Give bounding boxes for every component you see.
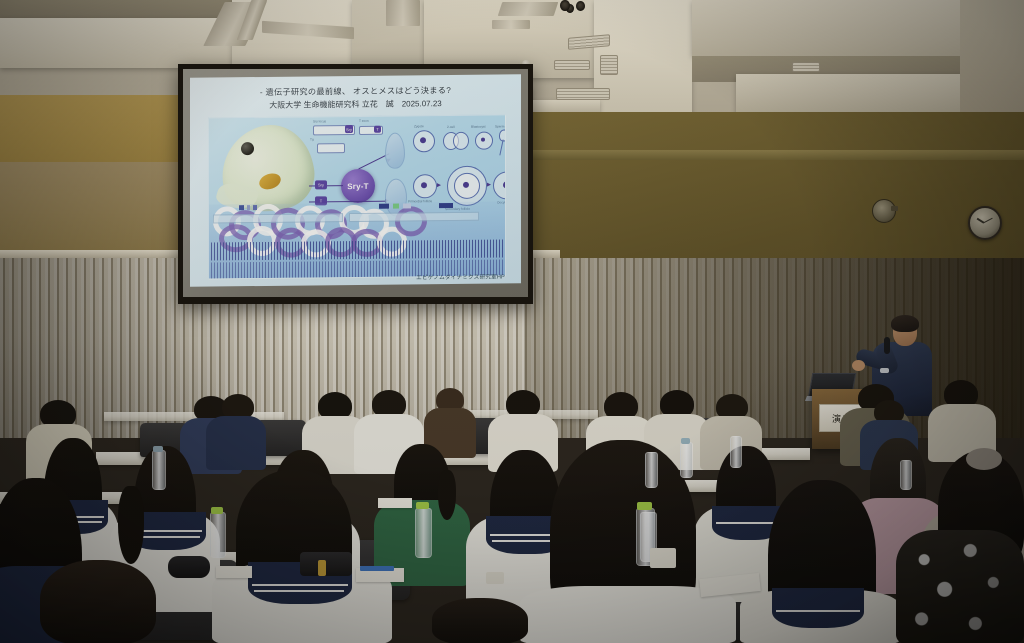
presenter-hair <box>891 315 919 332</box>
handout-accent <box>360 566 394 571</box>
gene-construct-box-3 <box>317 143 345 153</box>
water-bottle-2 <box>210 512 226 558</box>
cell-zygote-nucleus <box>420 137 426 143</box>
wall-speaker-icon <box>872 199 896 223</box>
water-bottle-6 <box>680 442 693 478</box>
water-bottle-1 <box>152 450 166 490</box>
pencil-case <box>300 552 352 576</box>
pathway-tag-1: Sry <box>315 180 327 189</box>
gene-tag-2: T <box>374 126 381 133</box>
tissue-pack <box>650 548 676 568</box>
chromatin-panel <box>209 201 505 278</box>
presenter-wristwatch <box>880 368 889 373</box>
slide-figure: Sry T Sry locus T exon Tg Sry-T Sry T Zy… <box>208 114 506 279</box>
gonad-ridge-male <box>385 132 405 168</box>
slide-credit: エピゲノムダイナミクス研究室HP <box>416 272 505 281</box>
bottle-cap-6 <box>681 438 690 444</box>
presenter-left-hand <box>852 360 865 371</box>
wall-speaker-bracket <box>891 206 898 211</box>
ceiling-light-slot-5 <box>498 2 559 16</box>
cell-sf-nucleus <box>463 182 469 188</box>
wall-left-lower <box>0 162 186 262</box>
ceiling-light-slot-4 <box>386 0 420 26</box>
cell-blastocyst-nucleus <box>481 138 485 142</box>
ceiling-edge-right <box>960 0 1024 122</box>
slide-title-line2: 大阪大学 生命機能研究科 立花 誠 2025.07.23 <box>190 97 521 112</box>
bottle-cap-3 <box>416 502 429 509</box>
bag-item <box>168 556 210 578</box>
embryo-eye <box>241 142 254 155</box>
water-bottle-9 <box>900 460 912 490</box>
downlight-icon-1 <box>576 1 585 11</box>
ceiling-soffit-e <box>692 0 960 56</box>
hair-scrunchie <box>966 448 1002 470</box>
wall-right-trim <box>524 150 1024 160</box>
sry-t-node: Sry-T <box>341 169 375 203</box>
bottle-cap-1 <box>153 446 163 452</box>
projected-slide: - 遺伝子研究の最前線、 オスとメスはどう決まる? 大阪大学 生命機能研究科 立… <box>190 74 521 286</box>
arrowhead-3 <box>437 183 441 187</box>
cell-pf-nucleus <box>421 182 427 188</box>
cell-oocyte-nucleus <box>503 181 506 188</box>
ceiling-soffit-left <box>0 18 232 68</box>
eraser <box>486 572 504 584</box>
ceiling-vent-3 <box>556 88 610 100</box>
cell-2cell-b <box>453 132 469 150</box>
ceiling-vent-1 <box>600 55 618 75</box>
bottle-cap-4 <box>637 502 652 510</box>
gene-tag-1: Sry <box>345 125 353 133</box>
arrowhead-4 <box>487 183 491 187</box>
water-bottle-8 <box>730 436 742 468</box>
handout-4 <box>216 566 252 578</box>
pencil-case-zipper <box>318 560 326 576</box>
ceiling-vent-4 <box>554 60 590 70</box>
cell-sperm-tail <box>499 140 503 156</box>
ceiling-vent-5 <box>792 62 820 72</box>
handout-3 <box>378 498 412 508</box>
water-bottle-3 <box>415 508 432 558</box>
lecture-hall-photo: - 遺伝子研究の最前線、 オスとメスはどう決まる? 大阪大学 生命機能研究科 立… <box>0 0 1024 643</box>
water-bottle-7 <box>645 452 658 488</box>
microphone-icon <box>884 337 890 354</box>
ceiling-light-slot-6 <box>492 20 530 29</box>
wall-clock-icon <box>968 206 1002 240</box>
downlight-icon-5 <box>560 0 570 11</box>
bottle-cap-2 <box>211 507 223 514</box>
